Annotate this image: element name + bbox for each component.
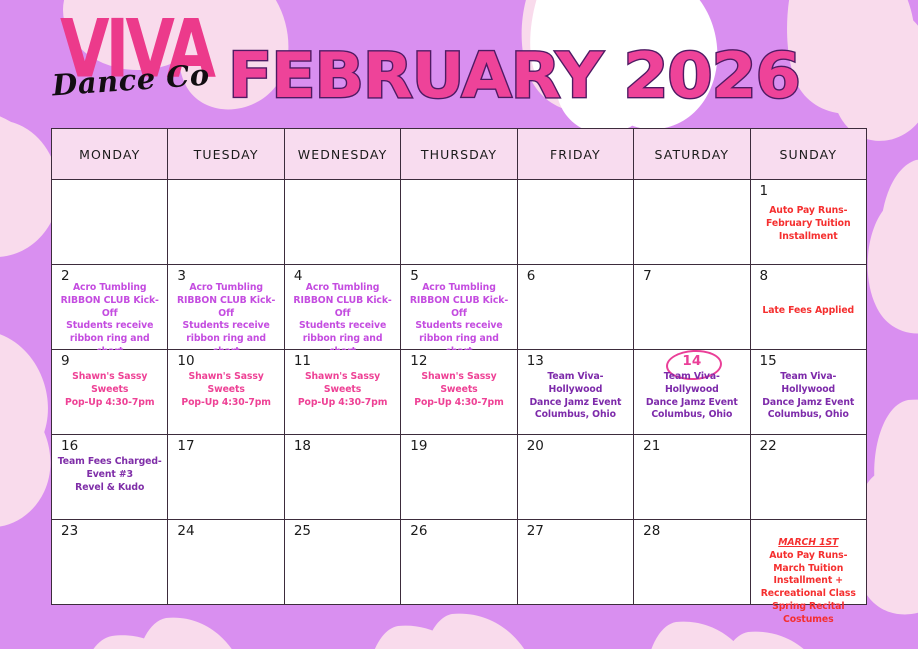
event-line: Acro Tumbling xyxy=(306,282,380,293)
event-line: RIBBON CLUB Kick-Off xyxy=(410,295,508,319)
day-number: 26 xyxy=(410,525,427,539)
calendar-week-row: 232425262728MARCH 1STAuto Pay Runs-March… xyxy=(52,520,867,605)
calendar-day-cell[interactable]: 22 xyxy=(750,435,866,520)
event-line: Pop-Up 4:30-7pm xyxy=(181,397,270,408)
event-text: Team Viva- HollywoodDance Jamz EventColu… xyxy=(754,371,863,422)
calendar-day-cell[interactable]: 18 xyxy=(284,435,400,520)
event-line: Team Viva- Hollywood xyxy=(664,371,720,395)
weekday-header-tuesday: TUESDAY xyxy=(168,129,284,180)
event-line: Team Fees Charged- xyxy=(58,456,162,467)
day-number: 24 xyxy=(177,525,194,539)
event-line: Auto Pay Runs- xyxy=(769,205,847,216)
event-line: Columbus, Ohio xyxy=(768,409,849,420)
event-line: Installment + xyxy=(774,575,844,586)
day-number: 10 xyxy=(177,355,194,369)
event-text: Team Viva- HollywoodDance Jamz EventColu… xyxy=(637,371,746,422)
calendar-day-cell[interactable]: 7 xyxy=(634,265,750,350)
event-line: Dance Jamz Event xyxy=(529,397,621,408)
event-line: Columbus, Ohio xyxy=(651,409,732,420)
day-number: 12 xyxy=(410,355,427,369)
calendar-day-cell[interactable]: 3Acro TumblingRIBBON CLUB Kick-OffStuden… xyxy=(168,265,284,350)
calendar-day-cell[interactable]: 25 xyxy=(284,520,400,605)
event-line: RIBBON CLUB Kick-Off xyxy=(177,295,275,319)
day-number: 21 xyxy=(643,440,660,454)
day-number: 18 xyxy=(294,440,311,454)
event-line: Shawn's Sassy Sweets xyxy=(305,371,380,395)
day-number: 11 xyxy=(294,355,311,369)
event-line: Students receive xyxy=(415,320,502,331)
event-text: Acro TumblingRIBBON CLUB Kick-OffStudent… xyxy=(288,282,397,359)
calendar-day-cell[interactable]: 16Team Fees Charged-Event #3Revel & Kudo xyxy=(52,435,168,520)
calendar-empty-cell[interactable]: MARCH 1STAuto Pay Runs-March TuitionInst… xyxy=(750,520,866,605)
event-text: Acro TumblingRIBBON CLUB Kick-OffStudent… xyxy=(55,282,164,359)
calendar-day-cell[interactable]: 17 xyxy=(168,435,284,520)
calendar-body: 1Auto Pay Runs-February TuitionInstallme… xyxy=(52,180,867,605)
event-line: March Tuition xyxy=(773,563,843,574)
calendar-day-cell[interactable]: 21 xyxy=(634,435,750,520)
day-number: 8 xyxy=(760,270,769,284)
day-number: 13 xyxy=(527,355,544,369)
day-number: 15 xyxy=(760,355,777,369)
event-line: Acro Tumbling xyxy=(189,282,263,293)
day-number: 28 xyxy=(643,525,660,539)
calendar-day-cell[interactable]: 2Acro TumblingRIBBON CLUB Kick-OffStuden… xyxy=(52,265,168,350)
event-text: Shawn's Sassy SweetsPop-Up 4:30-7pm xyxy=(55,371,164,409)
calendar-week-row: 2Acro TumblingRIBBON CLUB Kick-OffStuden… xyxy=(52,265,867,350)
event-line: February Tuition xyxy=(766,218,850,229)
calendar-day-cell[interactable]: 6 xyxy=(517,265,633,350)
event-line: Auto Pay Runs- xyxy=(769,550,847,561)
event-line: RIBBON CLUB Kick-Off xyxy=(293,295,391,319)
calendar-day-cell[interactable]: 23 xyxy=(52,520,168,605)
calendar-day-cell[interactable]: 9Shawn's Sassy SweetsPop-Up 4:30-7pm xyxy=(52,350,168,435)
event-line: Late Fees Applied xyxy=(762,305,854,316)
weekday-header-saturday: SATURDAY xyxy=(634,129,750,180)
event-heading: MARCH 1ST xyxy=(754,537,863,550)
day-number: 17 xyxy=(177,440,194,454)
event-text: Acro TumblingRIBBON CLUB Kick-OffStudent… xyxy=(171,282,280,359)
event-line: Acro Tumbling xyxy=(73,282,147,293)
brand-logo: VIVA Dance Co xyxy=(52,8,212,113)
weekday-header-row: MONDAYTUESDAYWEDNESDAYTHURSDAYFRIDAYSATU… xyxy=(52,129,867,180)
calendar-day-cell[interactable]: 27 xyxy=(517,520,633,605)
event-text: Team Fees Charged-Event #3Revel & Kudo xyxy=(55,456,164,494)
event-line: Spring Recital Costumes xyxy=(772,601,844,625)
day-number: 14 xyxy=(634,355,749,369)
event-line: Team Viva- Hollywood xyxy=(780,371,836,395)
calendar-grid: MONDAYTUESDAYWEDNESDAYTHURSDAYFRIDAYSATU… xyxy=(51,128,867,605)
event-line: RIBBON CLUB Kick-Off xyxy=(61,295,159,319)
calendar-week-row: 9Shawn's Sassy SweetsPop-Up 4:30-7pm10Sh… xyxy=(52,350,867,435)
event-text: Auto Pay Runs-February TuitionInstallmen… xyxy=(754,205,863,243)
calendar-empty-cell[interactable] xyxy=(634,180,750,265)
event-line: Shawn's Sassy Sweets xyxy=(421,371,496,395)
event-text: Shawn's Sassy SweetsPop-Up 4:30-7pm xyxy=(288,371,397,409)
event-line: Dance Jamz Event xyxy=(762,397,854,408)
calendar-day-cell[interactable]: 24 xyxy=(168,520,284,605)
event-line: Pop-Up 4:30-7pm xyxy=(414,397,503,408)
day-number: 22 xyxy=(760,440,777,454)
calendar-empty-cell[interactable] xyxy=(517,180,633,265)
weekday-header-friday: FRIDAY xyxy=(517,129,633,180)
event-line: Shawn's Sassy Sweets xyxy=(189,371,264,395)
event-text: Shawn's Sassy SweetsPop-Up 4:30-7pm xyxy=(404,371,513,409)
calendar-day-cell[interactable]: 1Auto Pay Runs-February TuitionInstallme… xyxy=(750,180,866,265)
event-line: Team Viva- Hollywood xyxy=(547,371,603,395)
day-number: 16 xyxy=(61,440,78,454)
calendar-day-cell[interactable]: 14Team Viva- HollywoodDance Jamz EventCo… xyxy=(634,350,750,435)
event-text: Late Fees Applied xyxy=(754,305,863,318)
event-line: Revel & Kudo xyxy=(75,482,144,493)
calendar-day-cell[interactable]: 4Acro TumblingRIBBON CLUB Kick-OffStuden… xyxy=(284,265,400,350)
weekday-header-monday: MONDAY xyxy=(52,129,168,180)
calendar-day-cell[interactable]: 10Shawn's Sassy SweetsPop-Up 4:30-7pm xyxy=(168,350,284,435)
calendar-day-cell[interactable]: 5Acro TumblingRIBBON CLUB Kick-OffStuden… xyxy=(401,265,517,350)
event-line: Installment xyxy=(779,231,838,242)
day-number: 1 xyxy=(760,185,769,199)
event-line: Acro Tumbling xyxy=(422,282,496,293)
day-number: 27 xyxy=(527,525,544,539)
calendar-header-row: MONDAYTUESDAYWEDNESDAYTHURSDAYFRIDAYSATU… xyxy=(52,129,867,180)
event-line: Students receive xyxy=(299,320,386,331)
calendar-empty-cell[interactable] xyxy=(284,180,400,265)
event-line: Shawn's Sassy Sweets xyxy=(72,371,147,395)
calendar-day-cell[interactable]: 15Team Viva- HollywoodDance Jamz EventCo… xyxy=(750,350,866,435)
event-text: Acro TumblingRIBBON CLUB Kick-OffStudent… xyxy=(404,282,513,359)
event-text: MARCH 1STAuto Pay Runs-March TuitionInst… xyxy=(754,537,863,627)
day-number: 7 xyxy=(643,270,652,284)
page-title: FEBRUARY 2026 xyxy=(228,44,800,107)
event-line: Pop-Up 4:30-7pm xyxy=(65,397,154,408)
calendar-week-row: 1Auto Pay Runs-February TuitionInstallme… xyxy=(52,180,867,265)
event-line: Event #3 xyxy=(86,469,132,480)
calendar-day-cell[interactable]: 26 xyxy=(401,520,517,605)
day-number: 9 xyxy=(61,355,70,369)
weekday-header-sunday: SUNDAY xyxy=(750,129,866,180)
event-line: Students receive xyxy=(183,320,270,331)
event-line: Recreational Class xyxy=(761,588,856,599)
calendar-page: VIVA Dance Co FEBRUARY 2026 MONDAYTUESDA… xyxy=(0,0,918,649)
calendar-day-cell[interactable]: 11Shawn's Sassy SweetsPop-Up 4:30-7pm xyxy=(284,350,400,435)
calendar-empty-cell[interactable] xyxy=(401,180,517,265)
event-text: Team Viva- HollywoodDance Jamz EventColu… xyxy=(521,371,630,422)
event-line: Dance Jamz Event xyxy=(646,397,738,408)
event-line: Students receive xyxy=(66,320,153,331)
event-line: Columbus, Ohio xyxy=(535,409,616,420)
event-line: Pop-Up 4:30-7pm xyxy=(298,397,387,408)
day-number: 20 xyxy=(527,440,544,454)
calendar-empty-cell[interactable] xyxy=(168,180,284,265)
day-number: 25 xyxy=(294,525,311,539)
day-number: 19 xyxy=(410,440,427,454)
calendar-day-cell[interactable]: 13Team Viva- HollywoodDance Jamz EventCo… xyxy=(517,350,633,435)
weekday-header-thursday: THURSDAY xyxy=(401,129,517,180)
event-text: Shawn's Sassy SweetsPop-Up 4:30-7pm xyxy=(171,371,280,409)
day-number: 6 xyxy=(527,270,536,284)
calendar-empty-cell[interactable] xyxy=(52,180,168,265)
page-header: VIVA Dance Co FEBRUARY 2026 xyxy=(0,0,918,126)
calendar-day-cell[interactable]: 19 xyxy=(401,435,517,520)
calendar-week-row: 16Team Fees Charged-Event #3Revel & Kudo… xyxy=(52,435,867,520)
calendar-day-cell[interactable]: 12Shawn's Sassy SweetsPop-Up 4:30-7pm xyxy=(401,350,517,435)
calendar-day-cell[interactable]: 28 xyxy=(634,520,750,605)
calendar-day-cell[interactable]: 8Late Fees Applied xyxy=(750,265,866,350)
calendar-day-cell[interactable]: 20 xyxy=(517,435,633,520)
weekday-header-wednesday: WEDNESDAY xyxy=(284,129,400,180)
day-number: 23 xyxy=(61,525,78,539)
